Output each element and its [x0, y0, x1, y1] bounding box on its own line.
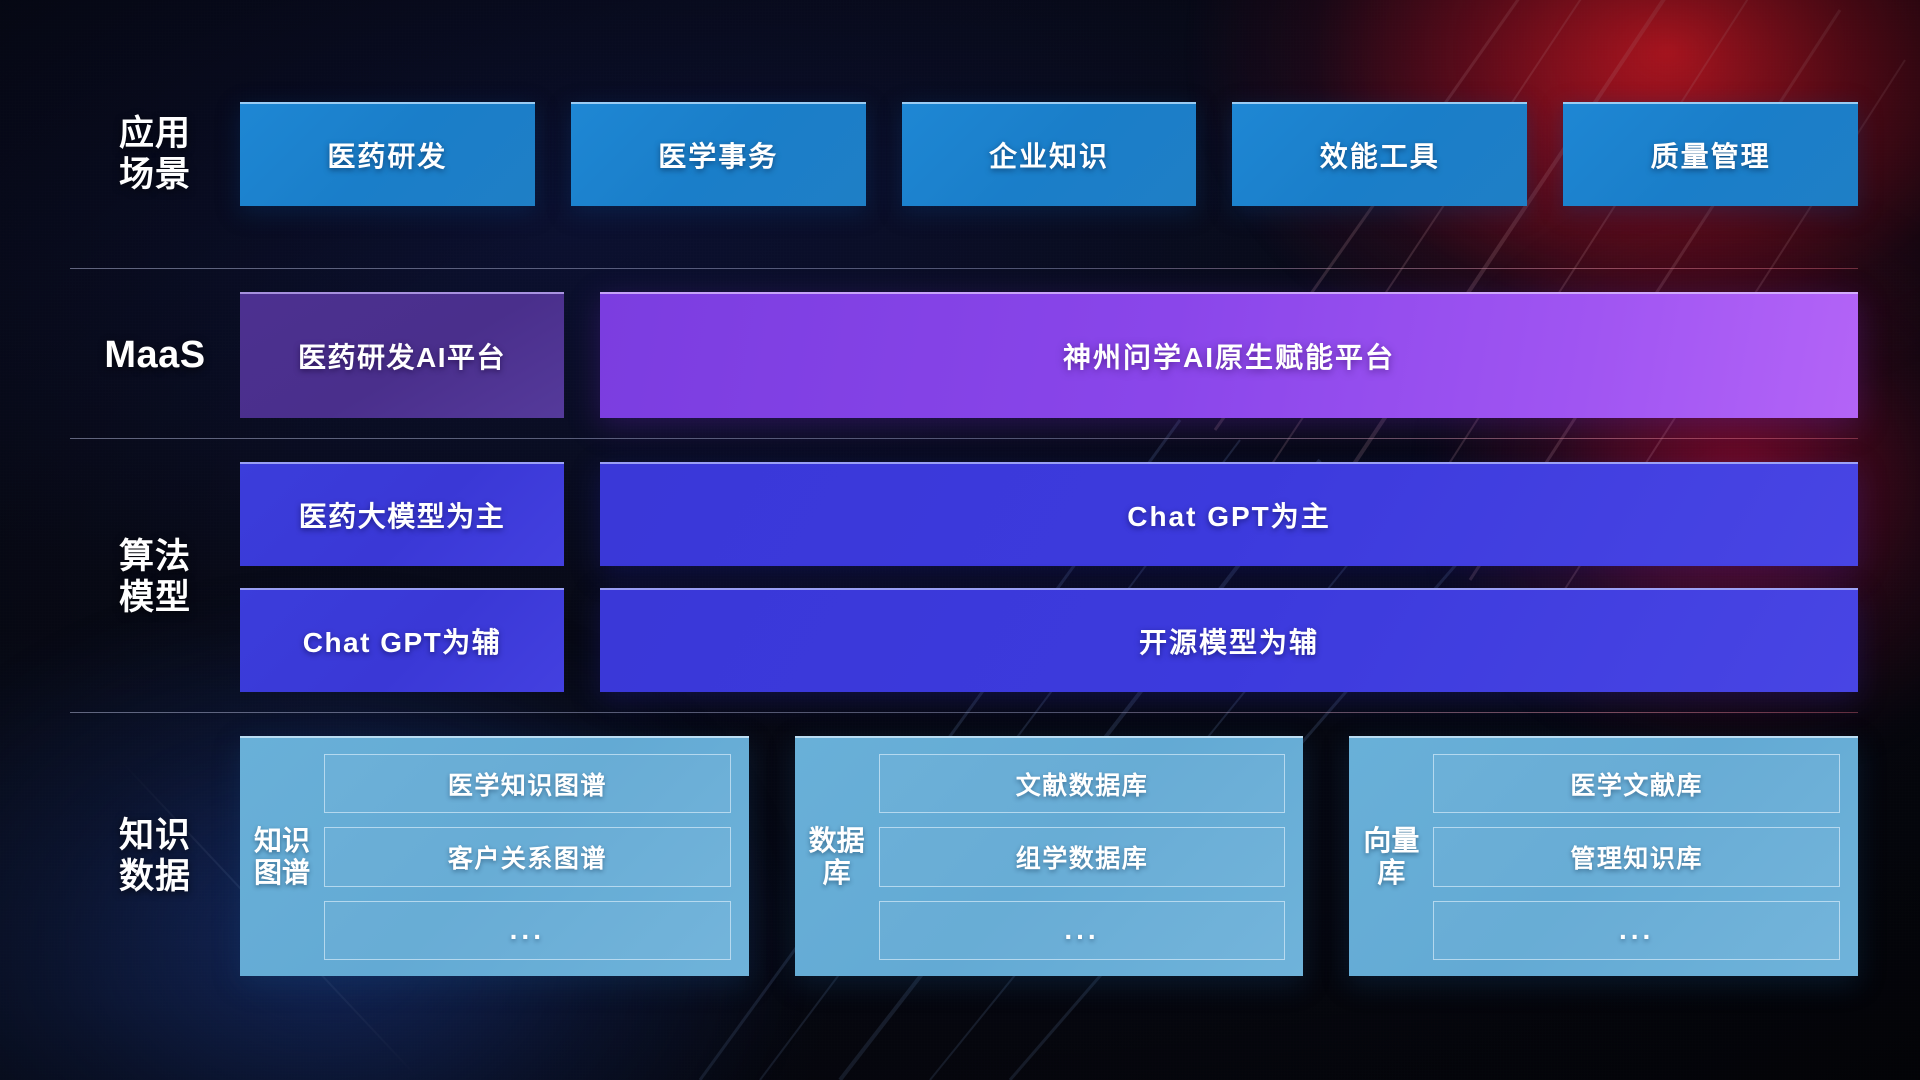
divider-tier3-tier4 [70, 712, 1858, 713]
database-items: 文献数据库 组学数据库 ... [879, 754, 1286, 960]
vector-store-items: 医学文献库 管理知识库 ... [1433, 754, 1840, 960]
knowledge-item-literature-database[interactable]: 文献数据库 [879, 754, 1286, 813]
tier-algorithm-models: 算法 模型 医药大模型为主 Chat GPT为主 Chat GPT为辅 开源模型… [70, 462, 1858, 692]
knowledge-card-knowledge-graph[interactable]: 知识图谱 医学知识图谱 客户关系图谱 ... [240, 736, 749, 976]
diagram-content: 应用 场景 医药研发 医学事务 企业知识 效能工具 质量管理 MaaS 医药研发… [0, 0, 1920, 1080]
tier-application-scenarios: 应用 场景 医药研发 医学事务 企业知识 效能工具 质量管理 [70, 102, 1858, 206]
knowledge-item-customer-relation-graph[interactable]: 客户关系图谱 [324, 827, 731, 886]
knowledge-item-medical-knowledge-graph[interactable]: 医学知识图谱 [324, 754, 731, 813]
divider-tier1-tier2 [70, 268, 1858, 269]
maas-boxes: 医药研发AI平台 神州问学AI原生赋能平台 [240, 292, 1858, 418]
algorithm-row-primary: 医药大模型为主 Chat GPT为主 [240, 462, 1858, 566]
tier-label-maas: MaaS [70, 333, 240, 378]
algo-box-chatgpt-primary[interactable]: Chat GPT为主 [600, 462, 1858, 566]
algo-box-medicine-llm-primary[interactable]: 医药大模型为主 [240, 462, 564, 566]
app-box-enterprise-knowledge[interactable]: 企业知识 [902, 102, 1197, 206]
knowledge-item-more-vector-store[interactable]: ... [1433, 901, 1840, 960]
maas-box-medicine-ai-platform[interactable]: 医药研发AI平台 [240, 292, 564, 418]
algorithm-model-boxes: 医药大模型为主 Chat GPT为主 Chat GPT为辅 开源模型为辅 [240, 462, 1858, 692]
divider-tier2-tier3 [70, 438, 1858, 439]
slide-canvas: 应用 场景 医药研发 医学事务 企业知识 效能工具 质量管理 MaaS 医药研发… [0, 0, 1920, 1080]
knowledge-item-medical-literature-store[interactable]: 医学文献库 [1433, 754, 1840, 813]
knowledge-card-label-knowledge-graph: 知识图谱 [254, 754, 310, 960]
app-box-medical-affairs[interactable]: 医学事务 [571, 102, 866, 206]
algo-box-opensource-secondary[interactable]: 开源模型为辅 [600, 588, 1858, 692]
app-box-medicine-rd[interactable]: 医药研发 [240, 102, 535, 206]
tier-knowledge-data: 知识 数据 知识图谱 医学知识图谱 客户关系图谱 ... 数据库 文献数据库 组… [70, 736, 1858, 976]
knowledge-graph-items: 医学知识图谱 客户关系图谱 ... [324, 754, 731, 960]
tier-maas: MaaS 医药研发AI平台 神州问学AI原生赋能平台 [70, 292, 1858, 418]
knowledge-card-label-database: 数据库 [809, 754, 865, 960]
knowledge-card-label-vector-store: 向量库 [1363, 754, 1419, 960]
maas-box-shenzhou-wenxue-platform[interactable]: 神州问学AI原生赋能平台 [600, 292, 1858, 418]
knowledge-item-more-knowledge-graph[interactable]: ... [324, 901, 731, 960]
knowledge-item-omics-database[interactable]: 组学数据库 [879, 827, 1286, 886]
algorithm-row-secondary: Chat GPT为辅 开源模型为辅 [240, 588, 1858, 692]
app-box-quality-management[interactable]: 质量管理 [1563, 102, 1858, 206]
algo-box-chatgpt-secondary[interactable]: Chat GPT为辅 [240, 588, 564, 692]
tier-label-algorithm-models: 算法 模型 [70, 462, 240, 692]
knowledge-item-management-knowledge-store[interactable]: 管理知识库 [1433, 827, 1840, 886]
application-scenarios-boxes: 医药研发 医学事务 企业知识 效能工具 质量管理 [240, 102, 1858, 206]
knowledge-item-more-database[interactable]: ... [879, 901, 1286, 960]
knowledge-card-vector-store[interactable]: 向量库 医学文献库 管理知识库 ... [1349, 736, 1858, 976]
knowledge-card-database[interactable]: 数据库 文献数据库 组学数据库 ... [795, 736, 1304, 976]
app-box-efficiency-tools[interactable]: 效能工具 [1232, 102, 1527, 206]
tier-label-application-scenarios: 应用 场景 [70, 113, 240, 196]
tier-label-knowledge-data: 知识 数据 [70, 736, 240, 976]
knowledge-data-cards: 知识图谱 医学知识图谱 客户关系图谱 ... 数据库 文献数据库 组学数据库 .… [240, 736, 1858, 976]
